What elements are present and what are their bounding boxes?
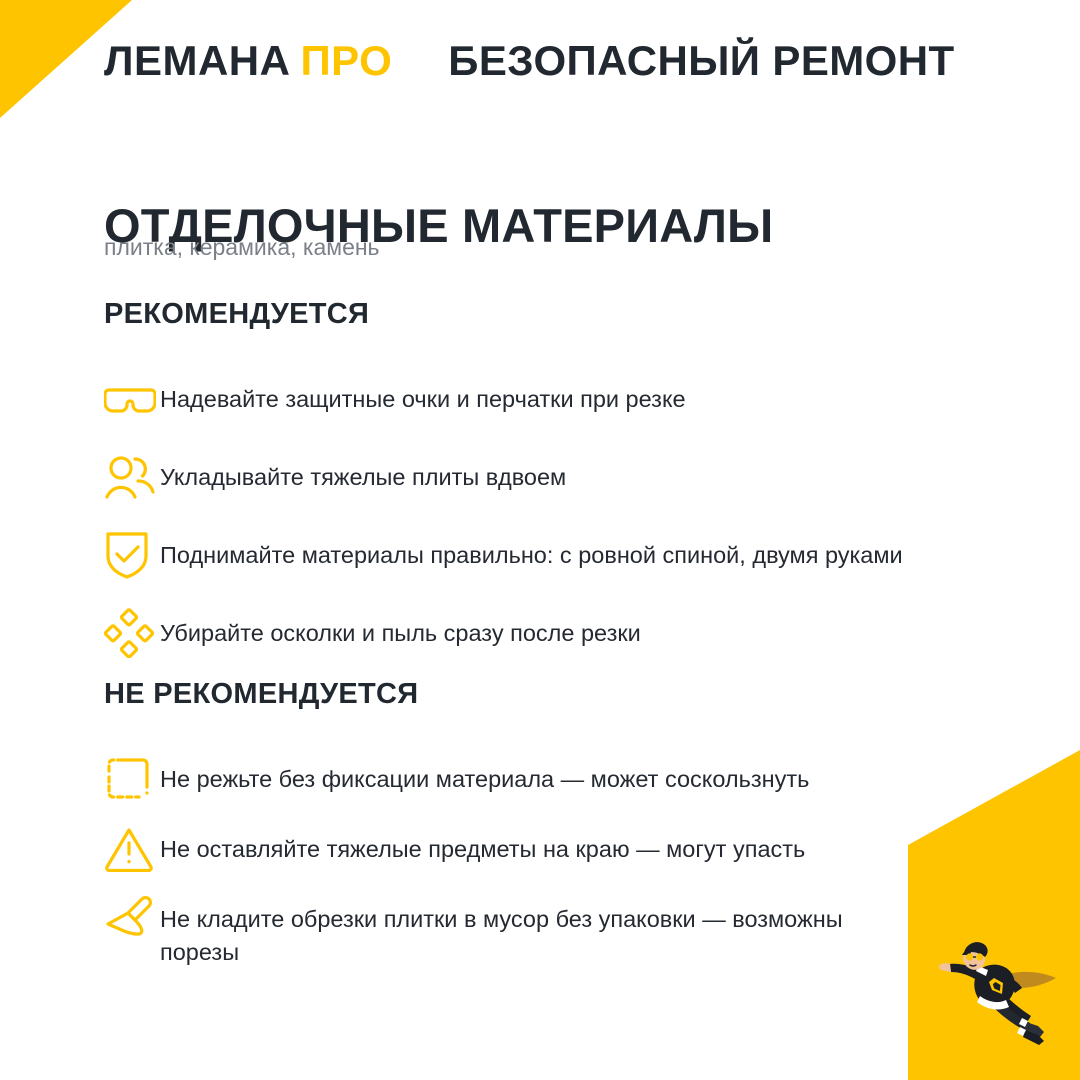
shield-check-icon xyxy=(104,529,160,581)
infographic-page: ЛЕМАНАПРО БЕЗОПАСНЫЙ РЕМОНТ ОТДЕЛОЧНЫЕ М… xyxy=(0,0,1080,1080)
four-diamonds-icon xyxy=(104,607,160,659)
flying-superhero-mascot xyxy=(922,930,1072,1050)
tip-text: Не оставляйте тяжелые предметы на краю —… xyxy=(160,823,860,866)
tip-text: Не кладите обрезки плитки в мусор без уп… xyxy=(160,893,860,970)
section-heading-not-recommended: НЕ РЕКОМЕНДУЕТСЯ xyxy=(104,680,984,709)
section-heading-recommended: РЕКОМЕНДУЕТСЯ xyxy=(104,300,984,329)
list-item: Поднимайте материалы правильно: с ровной… xyxy=(104,529,984,581)
section-not-recommended: НЕ РЕКОМЕНДУЕТСЯ Не режьте без фиксации … xyxy=(104,680,984,988)
list-item: Укладывайте тяжелые плиты вдвоем xyxy=(104,451,984,503)
list-item: Не режьте без фиксации материала — может… xyxy=(104,753,984,805)
tip-text: Убирайте осколки и пыль сразу после резк… xyxy=(160,607,920,650)
tip-text: Не режьте без фиксации материала — может… xyxy=(160,753,860,796)
warning-triangle-icon xyxy=(104,823,160,875)
brand-logo: ЛЕМАНАПРО xyxy=(104,40,392,82)
knife-icon xyxy=(104,893,160,945)
tip-text: Укладывайте тяжелые плиты вдвоем xyxy=(160,451,920,494)
list-item: Надевайте защитные очки и перчатки при р… xyxy=(104,373,984,425)
logo-text-pro: ПРО xyxy=(300,37,392,84)
tip-list-recommended: Надевайте защитные очки и перчатки при р… xyxy=(104,373,984,659)
list-item: Не кладите обрезки плитки в мусор без уп… xyxy=(104,893,984,970)
list-item: Убирайте осколки и пыль сразу после резк… xyxy=(104,607,984,659)
section-recommended: РЕКОМЕНДУЕТСЯ Надевайте защитные очки и … xyxy=(104,300,984,659)
two-people-icon xyxy=(104,451,160,503)
page-subtitle: плитка, керамика, камень xyxy=(104,233,380,263)
campaign-title: БЕЗОПАСНЫЙ РЕМОНТ xyxy=(448,40,954,82)
list-item: Не оставляйте тяжелые предметы на краю —… xyxy=(104,823,984,875)
tip-list-not-recommended: Не режьте без фиксации материала — может… xyxy=(104,753,984,970)
safety-goggles-icon xyxy=(104,373,160,425)
tip-text: Поднимайте материалы правильно: с ровной… xyxy=(160,529,920,572)
unfixed-slab-icon xyxy=(104,753,160,805)
header-bar: ЛЕМАНАПРО БЕЗОПАСНЫЙ РЕМОНТ xyxy=(104,40,955,98)
logo-text-lemana: ЛЕМАНА xyxy=(104,37,290,84)
tip-text: Надевайте защитные очки и перчатки при р… xyxy=(160,373,920,416)
